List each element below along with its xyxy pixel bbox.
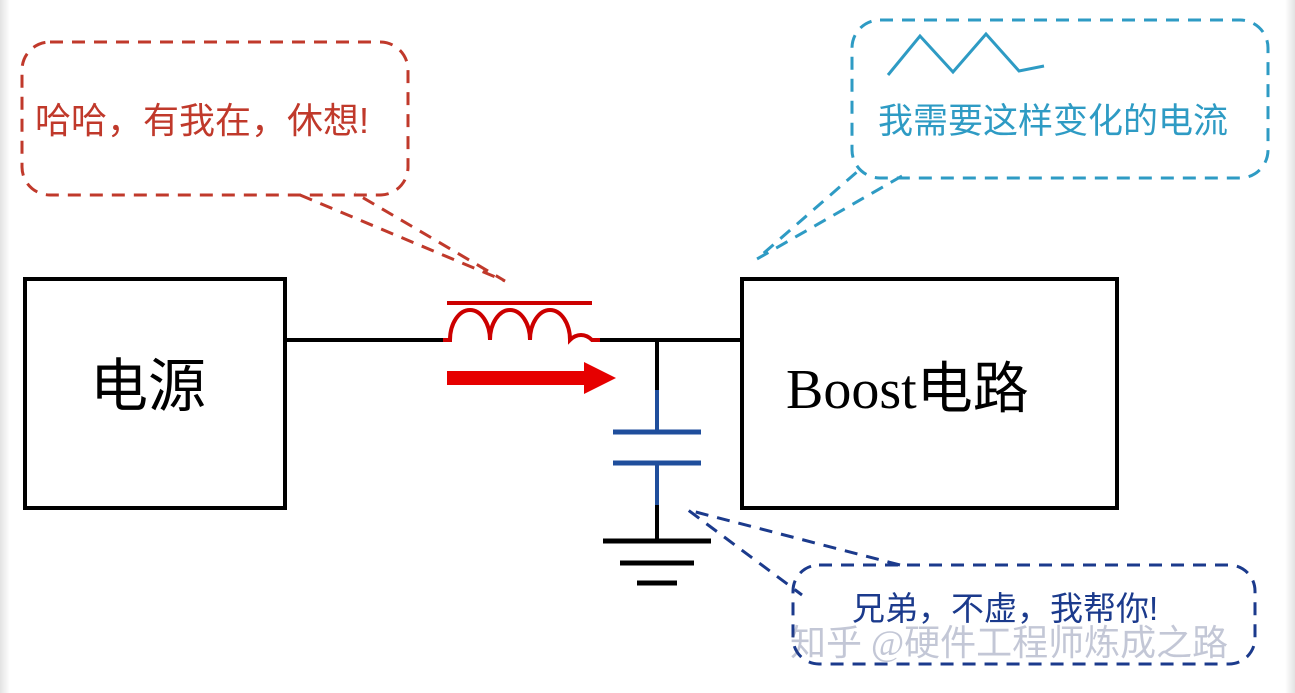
blue-bubble-label: 兄弟，不虚，我帮你! — [852, 592, 1158, 625]
power-source-label: 电源 — [90, 358, 206, 416]
text-layer: 电源 Boost电路 哈哈，有我在，休想! 我需要这样变化的电流 兄弟，不虚，我… — [0, 0, 1295, 693]
watermark: 知乎 @硬件工程师炼成之路 — [790, 625, 1228, 661]
boost-circuit-label: Boost电路 — [786, 362, 1029, 418]
red-bubble-label: 哈哈，有我在，休想! — [35, 103, 369, 139]
diagram-canvas: 电源 Boost电路 哈哈，有我在，休想! 我需要这样变化的电流 兄弟，不虚，我… — [0, 0, 1295, 693]
cyan-bubble-label: 我需要这样变化的电流 — [878, 104, 1228, 139]
